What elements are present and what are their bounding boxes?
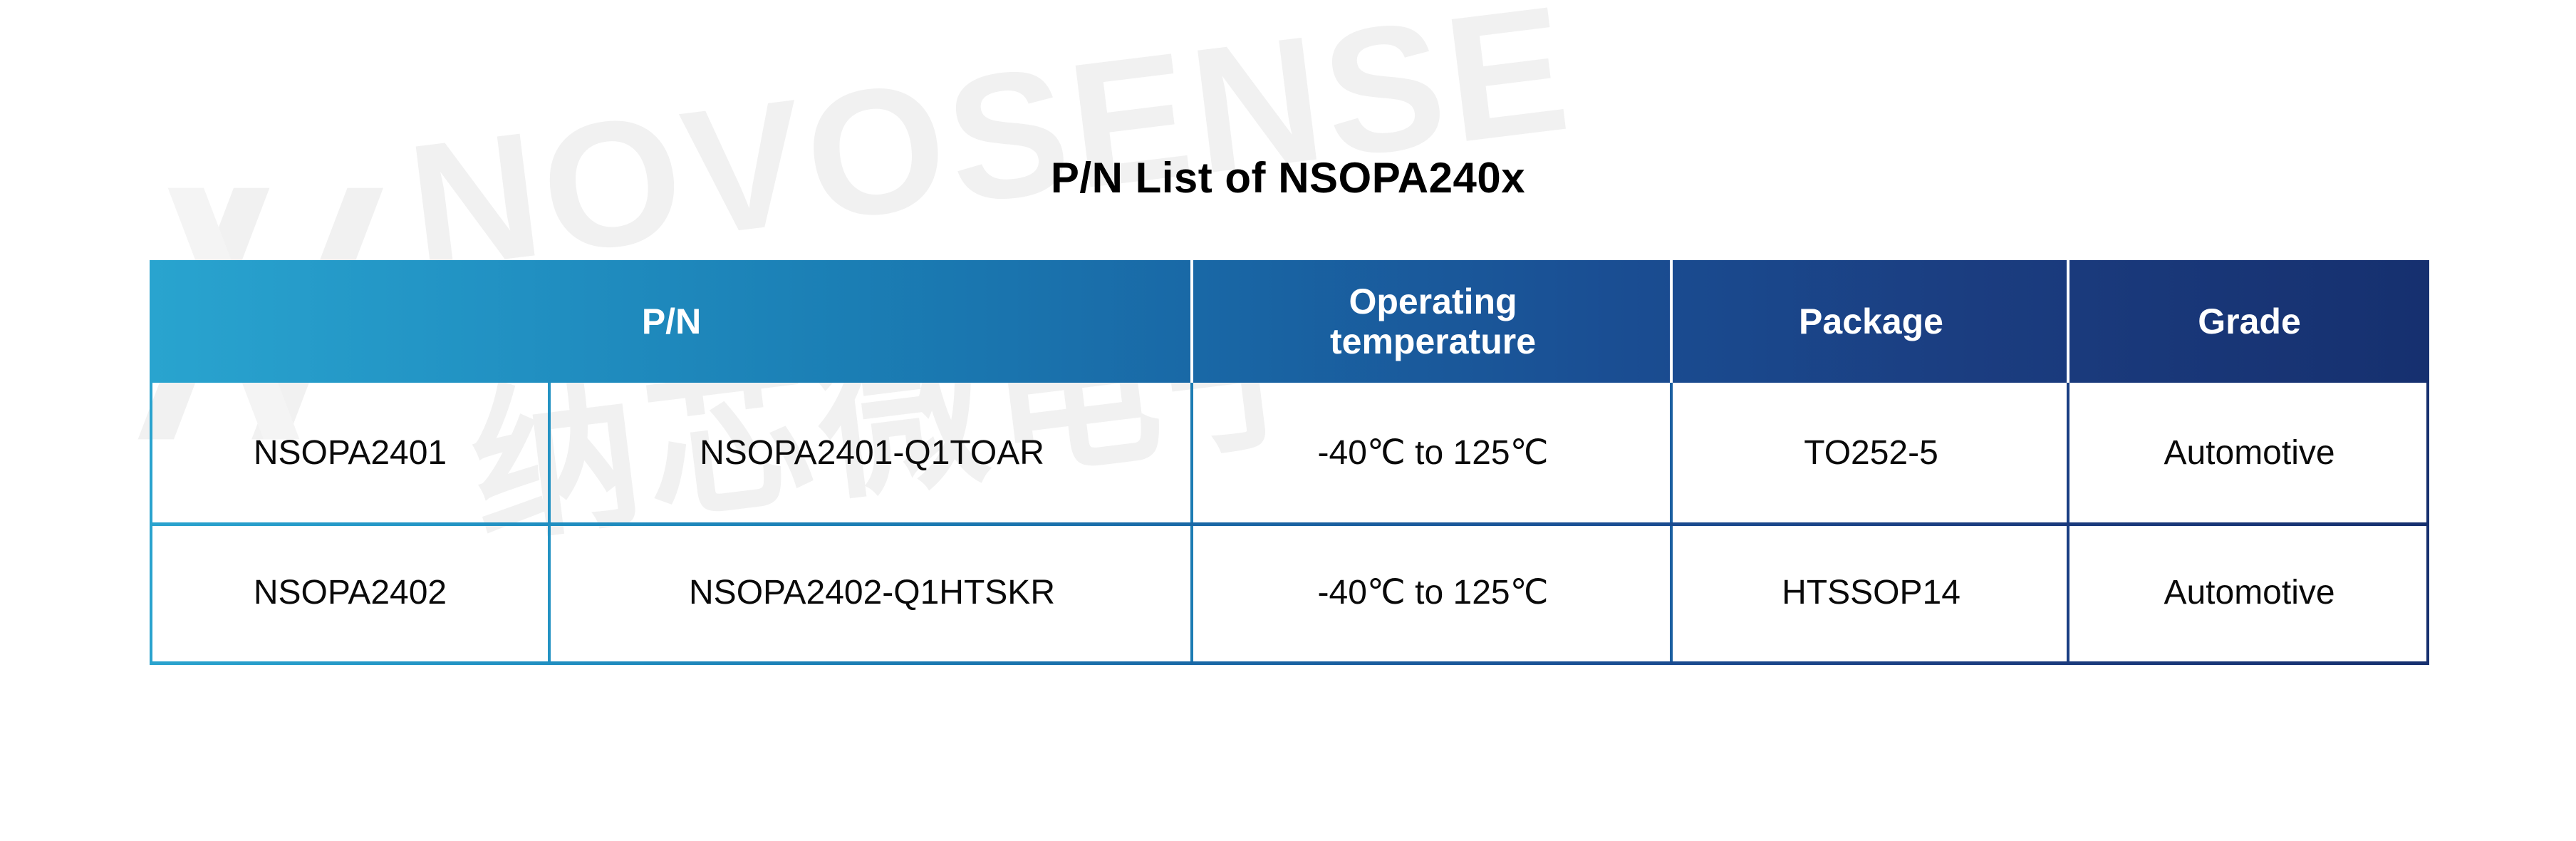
table-row: NSOPA2401 NSOPA2401-Q1TOAR -40℃ to 125℃ … xyxy=(150,383,2429,522)
column-header-operating-temperature-line1: Operating xyxy=(1349,282,1517,321)
cell-package: TO252-5 xyxy=(1673,383,2069,522)
cell-package: HTSSOP14 xyxy=(1673,522,2069,662)
cell-grade: Automotive xyxy=(2069,522,2429,662)
cell-operating-temperature: -40℃ to 125℃ xyxy=(1193,383,1673,522)
column-header-pn-label: P/N xyxy=(642,301,701,341)
cell-pn-family: NSOPA2402 xyxy=(150,522,551,662)
column-header-grade: Grade xyxy=(2069,260,2429,383)
table-header: P/N Operating temperature Package Grade xyxy=(150,260,2429,383)
header-separator-3 xyxy=(2067,260,2069,383)
column-header-pn: P/N xyxy=(150,260,1193,383)
slide-canvas: NOVOSENSE 纳芯微电子 P/N List of NSOPA240x P/… xyxy=(0,0,2576,841)
cell-pn-family: NSOPA2401 xyxy=(150,383,551,522)
table-body: NSOPA2401 NSOPA2401-Q1TOAR -40℃ to 125℃ … xyxy=(150,383,2429,662)
pn-list-table: P/N Operating temperature Package Grade xyxy=(150,260,2429,662)
column-header-package-label: Package xyxy=(1799,301,1943,341)
header-separator-1 xyxy=(1190,260,1193,383)
cell-operating-temperature: -40℃ to 125℃ xyxy=(1193,522,1673,662)
table-header-row: P/N Operating temperature Package Grade xyxy=(150,260,2429,383)
cell-pn-full: NSOPA2402-Q1HTSKR xyxy=(551,522,1193,662)
column-header-operating-temperature-line2: temperature xyxy=(1330,321,1536,361)
cell-pn-full: NSOPA2401-Q1TOAR xyxy=(551,383,1193,522)
pn-list-table-container: P/N Operating temperature Package Grade xyxy=(150,260,2429,662)
column-header-grade-label: Grade xyxy=(2198,301,2301,341)
column-header-operating-temperature: Operating temperature xyxy=(1193,260,1673,383)
header-separator-2 xyxy=(1670,260,1673,383)
page-title: P/N List of NSOPA240x xyxy=(0,153,2576,202)
table-row: NSOPA2402 NSOPA2402-Q1HTSKR -40℃ to 125℃… xyxy=(150,522,2429,662)
column-header-package: Package xyxy=(1673,260,2069,383)
cell-grade: Automotive xyxy=(2069,383,2429,522)
